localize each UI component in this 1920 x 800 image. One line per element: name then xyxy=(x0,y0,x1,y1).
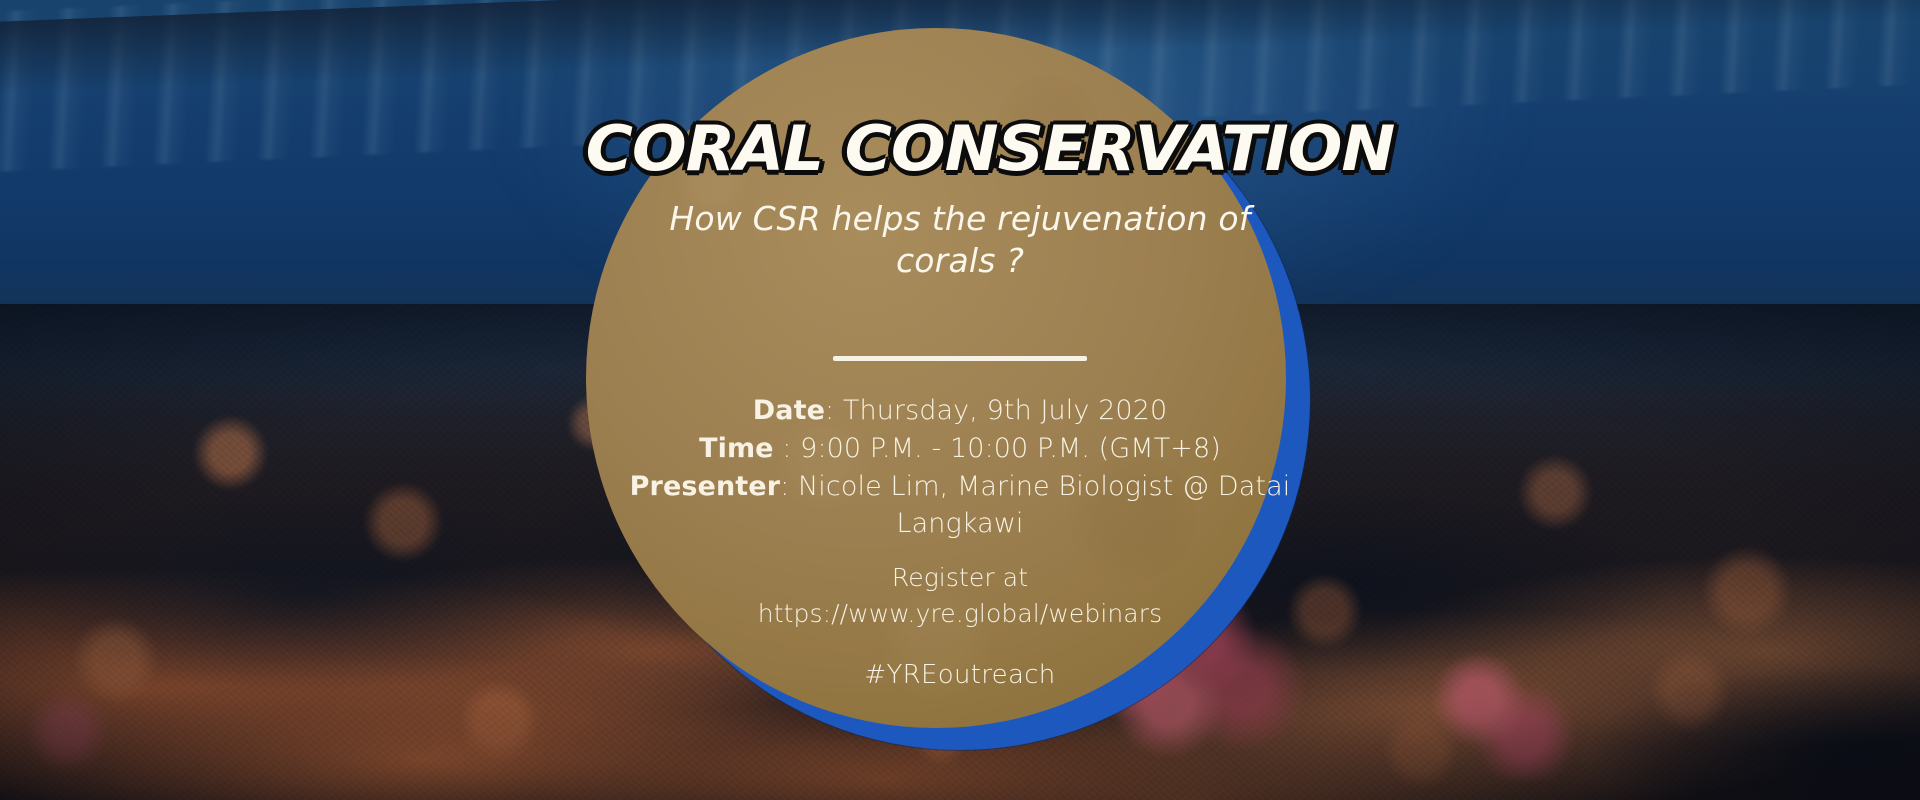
presenter-value: : Nicole Lim, Marine Biologist @ Datai L… xyxy=(780,471,1290,540)
detail-row-time: Time : 9:00 P.M. - 10:00 P.M. (GMT+8) xyxy=(610,430,1310,468)
register-url[interactable]: https://www.yre.global/webinars xyxy=(610,596,1310,632)
page-title: CORAL CONSERVATION xyxy=(586,118,1335,180)
detail-row-date: Date: Thursday, 9th July 2020 xyxy=(610,392,1310,430)
detail-row-presenter: Presenter: Nicole Lim, Marine Biologist … xyxy=(610,468,1310,544)
register-label: Register at xyxy=(610,560,1310,596)
hashtag: #YREoutreach xyxy=(610,660,1310,690)
poster-subtitle: How CSR helps the rejuvenation of corals… xyxy=(660,198,1260,282)
time-label: Time xyxy=(699,433,774,464)
webinar-poster: CORAL CONSERVATION How CSR helps the rej… xyxy=(0,0,1920,800)
presenter-label: Presenter xyxy=(630,471,780,502)
registration-block: Register at https://www.yre.global/webin… xyxy=(610,560,1310,631)
poster-content: CORAL CONSERVATION How CSR helps the rej… xyxy=(600,0,1320,800)
event-details: Date: Thursday, 9th July 2020 Time : 9:0… xyxy=(610,392,1310,543)
date-value: : Thursday, 9th July 2020 xyxy=(825,395,1167,426)
date-label: Date xyxy=(753,395,825,426)
time-value: : 9:00 P.M. - 10:00 P.M. (GMT+8) xyxy=(774,433,1221,464)
divider-rule xyxy=(833,356,1087,361)
